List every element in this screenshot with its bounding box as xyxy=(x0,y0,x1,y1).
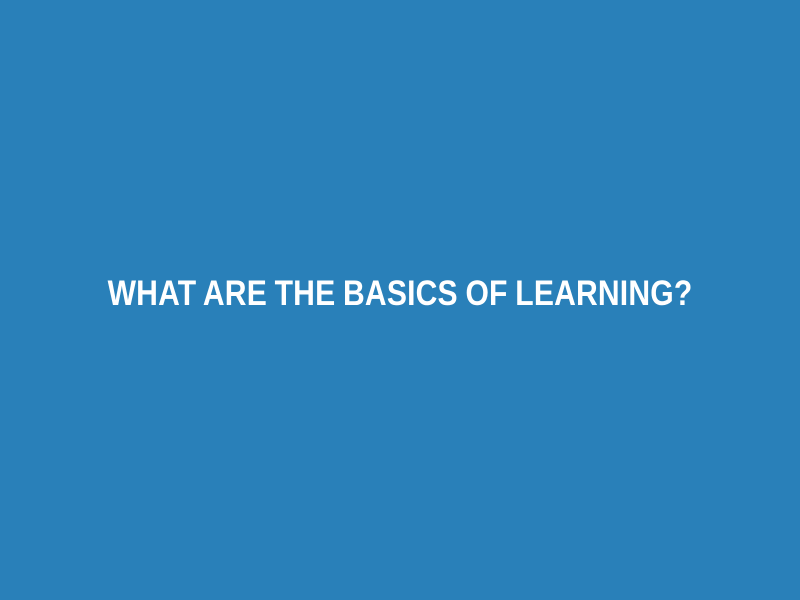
page-title: What are the basics of learning? xyxy=(108,272,693,316)
headline-block: What are the basics of learning? xyxy=(0,272,800,316)
hero-banner: What are the basics of learning? xyxy=(0,0,800,600)
